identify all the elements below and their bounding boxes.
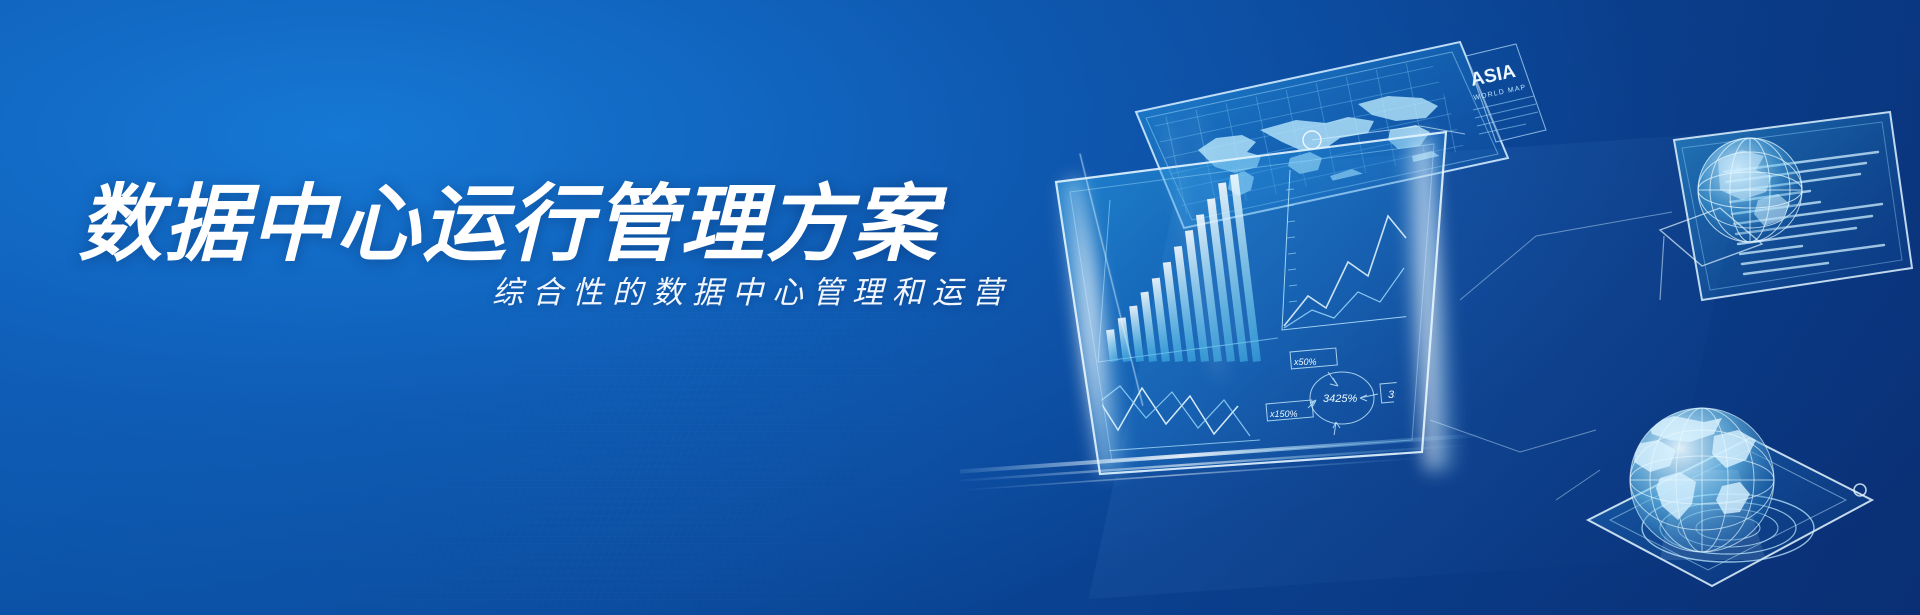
text-panel <box>1660 112 1912 300</box>
hero-banner: 数据中心运行管理方案 综合性的数据中心管理和运营 <box>0 0 1920 615</box>
flow-label-2: x150% <box>1269 409 1298 419</box>
flow-label-3: 3425% <box>1323 393 1357 405</box>
flow-label-1: x50% <box>1293 357 1317 367</box>
base-globe <box>1588 408 1872 586</box>
page-subtitle: 综合性的数据中心管理和运营 <box>492 277 1012 308</box>
page-title: 数据中心运行管理方案 <box>78 182 938 266</box>
hero-artwork: ASIA WORLD MAP <box>960 0 1920 615</box>
chart-panel: x50% x150% 3425% 350% 25% <box>960 112 1489 491</box>
